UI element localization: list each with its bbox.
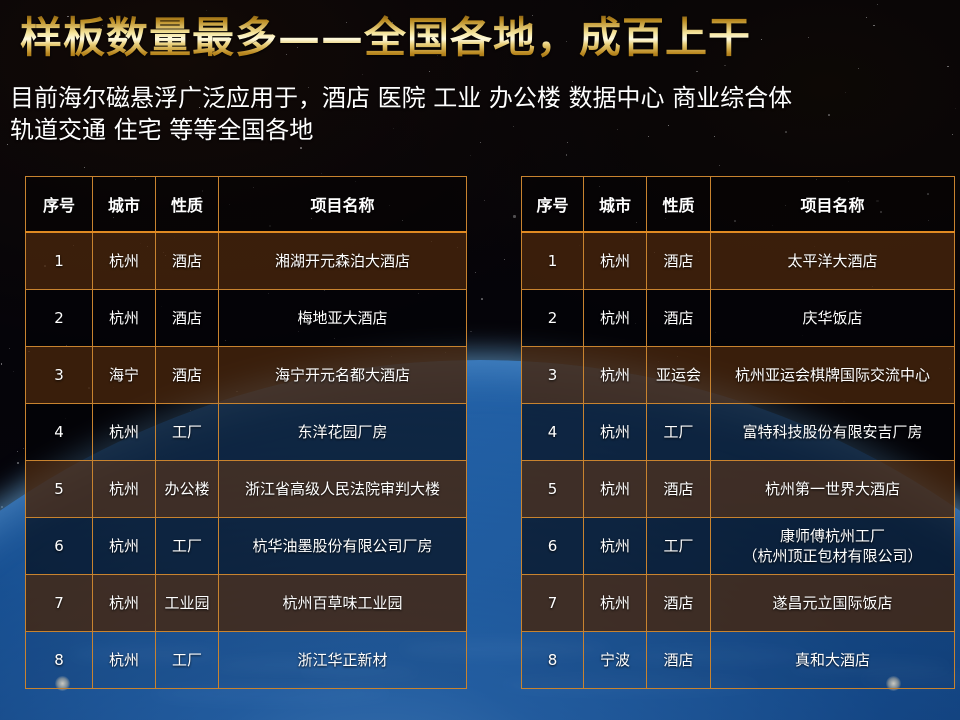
cell-type: 工厂: [647, 517, 711, 574]
cell-project-name: 杭州百草味工业园: [219, 574, 467, 631]
table-row: 4杭州工厂富特科技股份有限安吉厂房: [522, 403, 955, 460]
column-header-3: 性质: [156, 177, 219, 233]
cell-city: 杭州: [584, 517, 647, 574]
cell-project-name: 湘湖开元森泊大酒店: [219, 232, 467, 289]
cell-index: 4: [26, 403, 93, 460]
cell-city: 杭州: [93, 232, 156, 289]
cell-index: 6: [522, 517, 584, 574]
cell-project-name: 梅地亚大酒店: [219, 289, 467, 346]
cell-index: 7: [26, 574, 93, 631]
cell-city: 宁波: [584, 631, 647, 688]
page-subtitle: 目前海尔磁悬浮广泛应用于，酒店 医院 工业 办公楼 数据中心 商业综合体 轨道交…: [10, 82, 950, 146]
table-row: 1杭州酒店太平洋大酒店: [522, 232, 955, 289]
cell-index: 7: [522, 574, 584, 631]
cell-type: 酒店: [156, 346, 219, 403]
cell-type: 酒店: [156, 232, 219, 289]
cell-index: 3: [522, 346, 584, 403]
cell-index: 2: [522, 289, 584, 346]
cell-project-name: 真和大酒店: [711, 631, 955, 688]
cell-city: 杭州: [584, 232, 647, 289]
cell-type: 亚运会: [647, 346, 711, 403]
cell-city: 杭州: [93, 574, 156, 631]
table-body: 1杭州酒店湘湖开元森泊大酒店2杭州酒店梅地亚大酒店3海宁酒店海宁开元名都大酒店4…: [26, 232, 467, 688]
cell-city: 杭州: [584, 346, 647, 403]
cell-type: 酒店: [647, 289, 711, 346]
column-header-2: 城市: [584, 177, 647, 233]
cell-project-name: 浙江省高级人民法院审判大楼: [219, 460, 467, 517]
cell-city: 杭州: [584, 574, 647, 631]
table-row: 5杭州办公楼浙江省高级人民法院审判大楼: [26, 460, 467, 517]
cell-project-name: 杭州第一世界大酒店: [711, 460, 955, 517]
cell-index: 5: [26, 460, 93, 517]
table-row: 5杭州酒店杭州第一世界大酒店: [522, 460, 955, 517]
cell-project-name: 东洋花园厂房: [219, 403, 467, 460]
page-title: 样板数量最多——全国各地，成百上干: [20, 12, 751, 64]
cell-index: 8: [26, 631, 93, 688]
cell-type: 工厂: [156, 631, 219, 688]
subtitle-line-2: 轨道交通 住宅 等等全国各地: [10, 114, 950, 146]
table-row: 6杭州工厂康师傅杭州工厂（杭州顶正包材有限公司）: [522, 517, 955, 574]
table-row: 2杭州酒店庆华饭店: [522, 289, 955, 346]
cell-type: 酒店: [647, 631, 711, 688]
cell-city: 海宁: [93, 346, 156, 403]
cell-type: 工厂: [156, 517, 219, 574]
table-header-row: 序号城市性质项目名称: [522, 177, 955, 233]
cell-city: 杭州: [584, 289, 647, 346]
projects-table-right: 序号城市性质项目名称 1杭州酒店太平洋大酒店2杭州酒店庆华饭店3杭州亚运会杭州亚…: [521, 176, 955, 689]
cell-type: 酒店: [156, 289, 219, 346]
cell-project-name: 富特科技股份有限安吉厂房: [711, 403, 955, 460]
cell-project-name: 海宁开元名都大酒店: [219, 346, 467, 403]
table-header-row: 序号城市性质项目名称: [26, 177, 467, 233]
cell-type: 工厂: [156, 403, 219, 460]
cell-type: 酒店: [647, 232, 711, 289]
cell-project-name: 浙江华正新材: [219, 631, 467, 688]
cell-index: 3: [26, 346, 93, 403]
column-header-3: 性质: [647, 177, 711, 233]
cell-index: 5: [522, 460, 584, 517]
table-row: 7杭州工业园杭州百草味工业园: [26, 574, 467, 631]
subtitle-line-1: 目前海尔磁悬浮广泛应用于，酒店 医院 工业 办公楼 数据中心 商业综合体: [10, 82, 950, 114]
projects-table-left: 序号城市性质项目名称 1杭州酒店湘湖开元森泊大酒店2杭州酒店梅地亚大酒店3海宁酒…: [25, 176, 467, 689]
column-header-1: 序号: [522, 177, 584, 233]
cell-type: 酒店: [647, 574, 711, 631]
cell-project-name: 遂昌元立国际饭店: [711, 574, 955, 631]
column-header-2: 城市: [93, 177, 156, 233]
cell-index: 1: [522, 232, 584, 289]
cell-city: 杭州: [93, 517, 156, 574]
cell-type: 酒店: [647, 460, 711, 517]
table-row: 3杭州亚运会杭州亚运会棋牌国际交流中心: [522, 346, 955, 403]
cell-city: 杭州: [93, 631, 156, 688]
table-row: 1杭州酒店湘湖开元森泊大酒店: [26, 232, 467, 289]
cell-index: 4: [522, 403, 584, 460]
cell-type: 办公楼: [156, 460, 219, 517]
cell-city: 杭州: [584, 403, 647, 460]
column-header-4: 项目名称: [219, 177, 467, 233]
cell-city: 杭州: [93, 403, 156, 460]
cell-type: 工业园: [156, 574, 219, 631]
table-body: 1杭州酒店太平洋大酒店2杭州酒店庆华饭店3杭州亚运会杭州亚运会棋牌国际交流中心4…: [522, 232, 955, 688]
cell-city: 杭州: [93, 289, 156, 346]
table-row: 6杭州工厂杭华油墨股份有限公司厂房: [26, 517, 467, 574]
table-row: 2杭州酒店梅地亚大酒店: [26, 289, 467, 346]
cell-index: 8: [522, 631, 584, 688]
cell-project-name: 杭华油墨股份有限公司厂房: [219, 517, 467, 574]
cell-index: 2: [26, 289, 93, 346]
cell-city: 杭州: [584, 460, 647, 517]
cell-project-name: 庆华饭店: [711, 289, 955, 346]
slide-root: 样板数量最多——全国各地，成百上干 目前海尔磁悬浮广泛应用于，酒店 医院 工业 …: [0, 0, 960, 720]
table-row: 8宁波酒店真和大酒店: [522, 631, 955, 688]
cell-type: 工厂: [647, 403, 711, 460]
cell-project-name: 杭州亚运会棋牌国际交流中心: [711, 346, 955, 403]
column-header-1: 序号: [26, 177, 93, 233]
table-row: 4杭州工厂东洋花园厂房: [26, 403, 467, 460]
cell-project-name: 康师傅杭州工厂（杭州顶正包材有限公司）: [711, 517, 955, 574]
cell-project-name: 太平洋大酒店: [711, 232, 955, 289]
cell-city: 杭州: [93, 460, 156, 517]
cell-index: 6: [26, 517, 93, 574]
table-row: 8杭州工厂浙江华正新材: [26, 631, 467, 688]
column-header-4: 项目名称: [711, 177, 955, 233]
cell-index: 1: [26, 232, 93, 289]
table-row: 3海宁酒店海宁开元名都大酒店: [26, 346, 467, 403]
table-row: 7杭州酒店遂昌元立国际饭店: [522, 574, 955, 631]
